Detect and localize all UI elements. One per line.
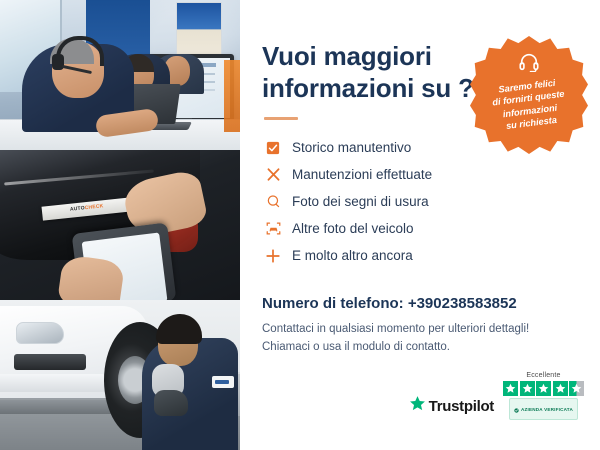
rating-star [553,381,568,396]
feature-item-foto-usura: Foto dei segni di usura [262,188,578,215]
trustpilot-star-icon [409,395,426,417]
rating-label: Eccellente [526,372,560,379]
verified-text: AZIENDA VERIFICATA [521,407,573,412]
mechanic-wheel-photo [0,300,240,450]
star-rating [503,381,584,396]
rating-star-half [569,381,584,396]
call-center-photo [0,0,240,150]
feature-item-manutenzioni: Manutenzioni effettuate [262,161,578,188]
vehicle-inspection-photo: AUTOCHECK [0,150,240,300]
orange-foreground-object [224,60,240,132]
request-info-badge: Saremo felici di fornirti queste informa… [470,36,588,154]
car-bumper [0,374,110,392]
plus-icon [262,248,284,264]
feature-label: Manutenzioni effettuate [292,167,432,182]
wrench-cross-icon [262,167,284,182]
contact-copy-line-2: Chiamaci o usa il modulo di contatto. [262,339,578,357]
verified-check-icon [514,400,519,418]
wall-poster [176,2,222,62]
car-scan-icon [262,221,284,236]
photo-column: AUTOCHECK [0,0,240,450]
car-grille [14,354,86,370]
feature-list: Storico manutentivo Manutenzioni effettu… [262,134,578,269]
feature-label: E molto altro ancora [292,248,413,263]
checkbox-checked-icon [262,141,284,155]
badge-text: Saremo felici di fornirti queste informa… [478,74,580,135]
contact-copy-line-1: Contattaci in qualsiasi momento per ulte… [262,321,578,339]
feature-label: Altre foto del veicolo [292,221,414,236]
trustpilot-rating: Eccellente [503,372,584,421]
rating-star [503,381,518,396]
rating-star [520,381,535,396]
feature-label: Storico manutentivo [292,140,411,155]
phone-number-line: Numero di telefono: +390238583852 [262,295,578,312]
contact-copy: Contattaci in qualsiasi momento per ulte… [262,321,578,357]
trustpilot-widget[interactable]: Trustpilot Eccellente [409,372,584,421]
headset-icon [518,52,540,77]
feature-label: Foto dei segni di usura [292,194,429,209]
strip-brand-logo: AUTOCHECK [70,203,104,212]
trustpilot-logo: Trustpilot [409,395,494,420]
verified-badge: AZIENDA VERIFICATA [509,398,578,420]
info-request-banner: AUTOCHECK Vuoi maggiori info [0,0,600,450]
uniform-logo-patch [212,376,234,388]
trustpilot-wordmark: Trustpilot [429,398,494,415]
vehicle-lift [0,400,120,414]
content-panel: Vuoi maggiori informazioni su ? Storico … [240,0,600,450]
mechanic-glove [154,390,188,416]
headline: Vuoi maggiori informazioni su ? [262,40,477,104]
rating-star [536,381,551,396]
feature-item-altro-ancora: E molto altro ancora [262,242,578,269]
magnifier-icon [262,194,284,209]
car-headlight [16,322,64,344]
feature-item-altre-foto: Altre foto del veicolo [262,215,578,242]
accent-divider [264,117,298,120]
